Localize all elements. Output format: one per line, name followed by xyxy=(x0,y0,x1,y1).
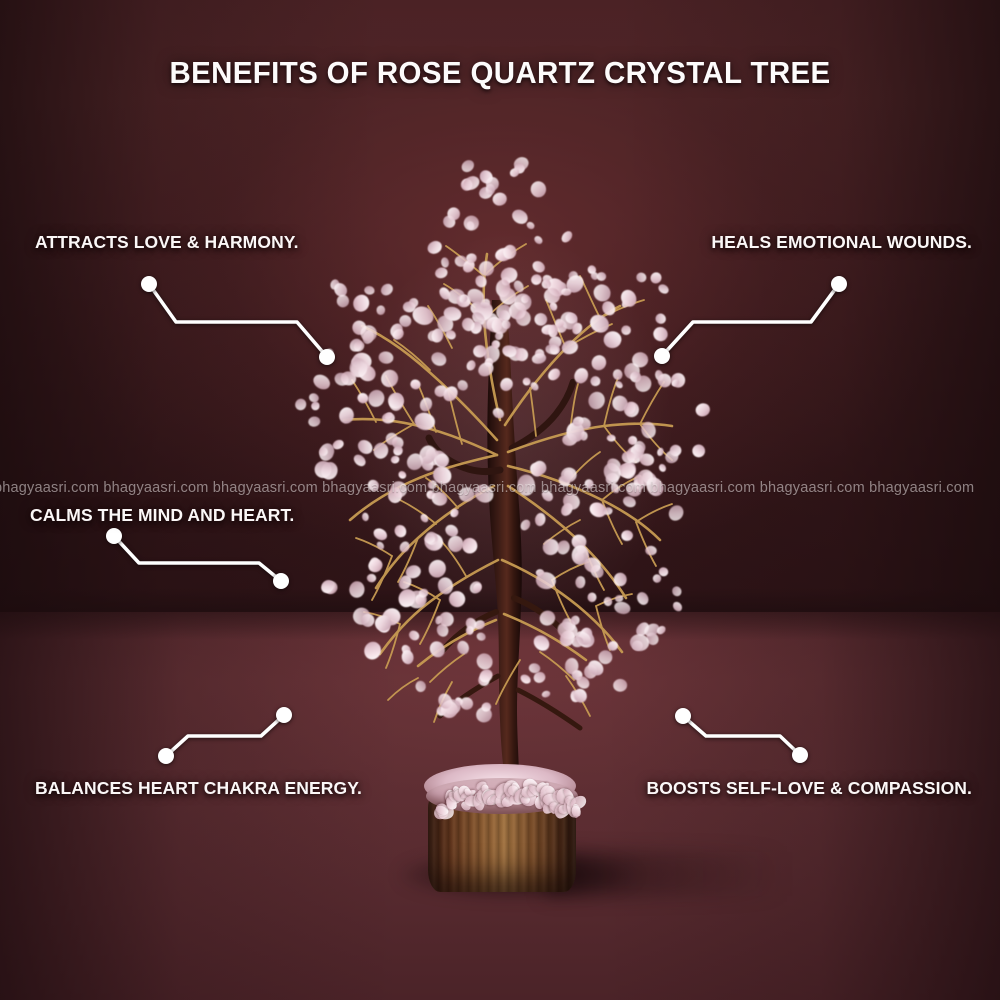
callout-label-heals-wounds: HEALS EMOTIONAL WOUNDS. xyxy=(711,232,972,253)
callout-label-attracts-love: ATTRACTS LOVE & HARMONY. xyxy=(35,232,299,253)
watermark-text: bhagyaasri.com bhagyaasri.com bhagyaasri… xyxy=(0,480,1000,496)
page-title: BENEFITS OF ROSE QUARTZ CRYSTAL TREE xyxy=(25,55,975,91)
wooden-base xyxy=(420,770,585,895)
callout-label-boosts-self-love: BOOSTS SELF-LOVE & COMPASSION. xyxy=(647,778,972,799)
infographic-canvas: BENEFITS OF ROSE QUARTZ CRYSTAL TREE bha… xyxy=(0,0,1000,1000)
callout-label-balances-chakra: BALANCES HEART CHAKRA ENERGY. xyxy=(35,778,362,799)
callout-label-calms-mind: CALMS THE MIND AND HEART. xyxy=(30,505,294,526)
quartz-chips-layer xyxy=(420,770,585,828)
